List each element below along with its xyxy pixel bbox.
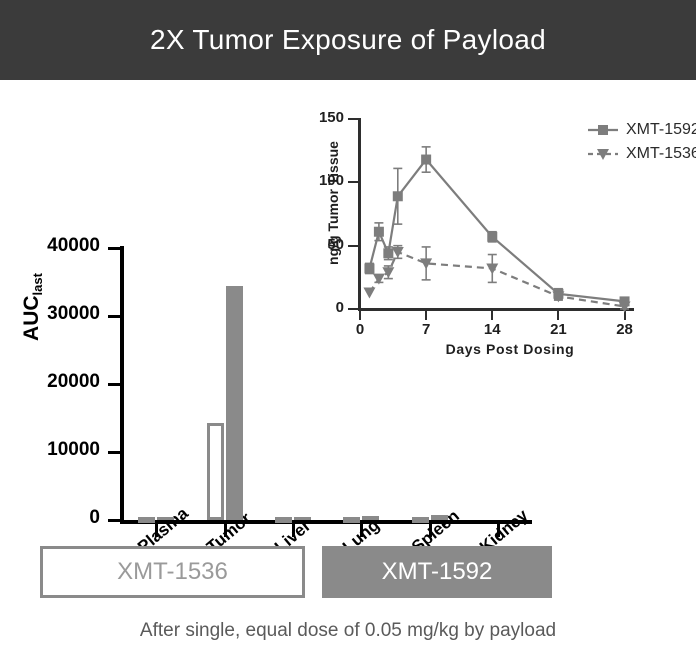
inset-y-tick-label: 150	[284, 109, 344, 126]
inset-x-tick-label: 14	[477, 321, 507, 338]
bar-y-tick	[108, 519, 122, 522]
bar-y-tick-label: 40000	[0, 235, 100, 257]
bar-tumor-xmt-1536	[207, 423, 224, 520]
inset-line-chart: ng/g Tumor Tissue Days Post Dosing 05010…	[300, 100, 696, 365]
inset-y-axis	[358, 118, 361, 310]
bar-lung-xmt-1536	[343, 517, 360, 523]
bar-y-tick	[108, 451, 122, 454]
data-point-marker	[487, 232, 497, 242]
legend-item-xmt-1592[interactable]: XMT-1592	[586, 118, 696, 142]
inset-y-tick	[348, 245, 359, 247]
figure-area: AUClast 010000200003000040000 PlasmaTumo…	[0, 80, 696, 667]
bar-y-tick-label: 30000	[0, 303, 100, 325]
data-point-marker	[364, 263, 374, 273]
series-line	[369, 252, 624, 306]
series-line	[369, 160, 624, 302]
page-title: 2X Tumor Exposure of Payload	[150, 24, 546, 56]
inset-x-tick	[425, 311, 427, 320]
inset-x-tick	[557, 311, 559, 320]
data-point-marker	[382, 267, 394, 278]
inset-y-tick-label: 0	[284, 299, 344, 316]
key-label-xmt-1536: XMT-1536	[117, 558, 228, 586]
legend-label: XMT-1536	[626, 145, 696, 163]
data-point-marker	[552, 291, 564, 302]
y-axis-title-subscript: last	[30, 273, 45, 295]
key-box-xmt-1592[interactable]: XMT-1592	[322, 546, 552, 598]
inset-x-tick-label: 28	[610, 321, 640, 338]
data-point-marker	[393, 191, 403, 201]
inset-legend: XMT-1592XMT-1536	[586, 118, 696, 166]
triangle-down-marker-icon	[586, 146, 620, 162]
inset-x-tick-label: 21	[543, 321, 573, 338]
inset-y-tick	[348, 308, 359, 310]
bar-lung-xmt-1592	[362, 516, 379, 520]
key-label-xmt-1592: XMT-1592	[382, 558, 493, 586]
bar-y-tick-label: 0	[0, 507, 100, 529]
bar-y-tick	[108, 315, 122, 318]
series-key: XMT-1536 XMT-1592	[0, 546, 560, 606]
square-marker-icon	[586, 122, 620, 138]
legend-item-xmt-1536[interactable]: XMT-1536	[586, 142, 696, 166]
data-point-marker	[620, 296, 630, 306]
inset-y-tick	[348, 118, 359, 120]
data-point-marker	[383, 248, 393, 258]
bar-liver-xmt-1536	[275, 517, 292, 523]
data-point-marker	[420, 258, 432, 269]
bar-y-tick	[108, 383, 122, 386]
bar-plasma-xmt-1536	[138, 517, 155, 523]
data-point-marker	[553, 289, 563, 299]
inset-x-tick-label: 7	[411, 321, 441, 338]
inset-y-tick-label: 50	[284, 236, 344, 253]
data-point-marker	[373, 274, 385, 285]
inset-x-tick	[624, 311, 626, 320]
bar-liver-xmt-1592	[294, 517, 311, 520]
bar-tumor-xmt-1592	[226, 286, 243, 520]
data-point-marker	[392, 247, 404, 258]
data-point-marker	[363, 288, 375, 299]
inset-x-axis	[358, 308, 634, 311]
title-banner: 2X Tumor Exposure of Payload	[0, 0, 696, 80]
bar-y-tick-label: 10000	[0, 439, 100, 461]
data-point-marker	[486, 263, 498, 274]
bar-y-tick-label: 20000	[0, 371, 100, 393]
inset-x-tick	[359, 311, 361, 320]
inset-y-tick	[348, 181, 359, 183]
figure-caption: After single, equal dose of 0.05 mg/kg b…	[0, 620, 696, 642]
key-box-xmt-1536[interactable]: XMT-1536	[40, 546, 305, 598]
inset-x-tick-label: 0	[345, 321, 375, 338]
data-point-marker	[421, 155, 431, 165]
inset-series-xmt-1592	[364, 147, 629, 307]
inset-y-axis-title: ng/g Tumor Tissue	[325, 108, 341, 298]
bar-spleen-xmt-1536	[412, 517, 429, 523]
legend-label: XMT-1592	[626, 121, 696, 139]
inset-x-axis-title: Days Post Dosing	[370, 341, 650, 357]
bar-plasma-xmt-1592	[157, 517, 174, 520]
inset-x-tick	[491, 311, 493, 320]
data-point-marker	[374, 227, 384, 237]
bar-spleen-xmt-1592	[431, 515, 448, 520]
inset-y-tick-label: 100	[284, 172, 344, 189]
bar-y-tick	[108, 247, 122, 250]
inset-series-xmt-1536	[363, 246, 630, 313]
